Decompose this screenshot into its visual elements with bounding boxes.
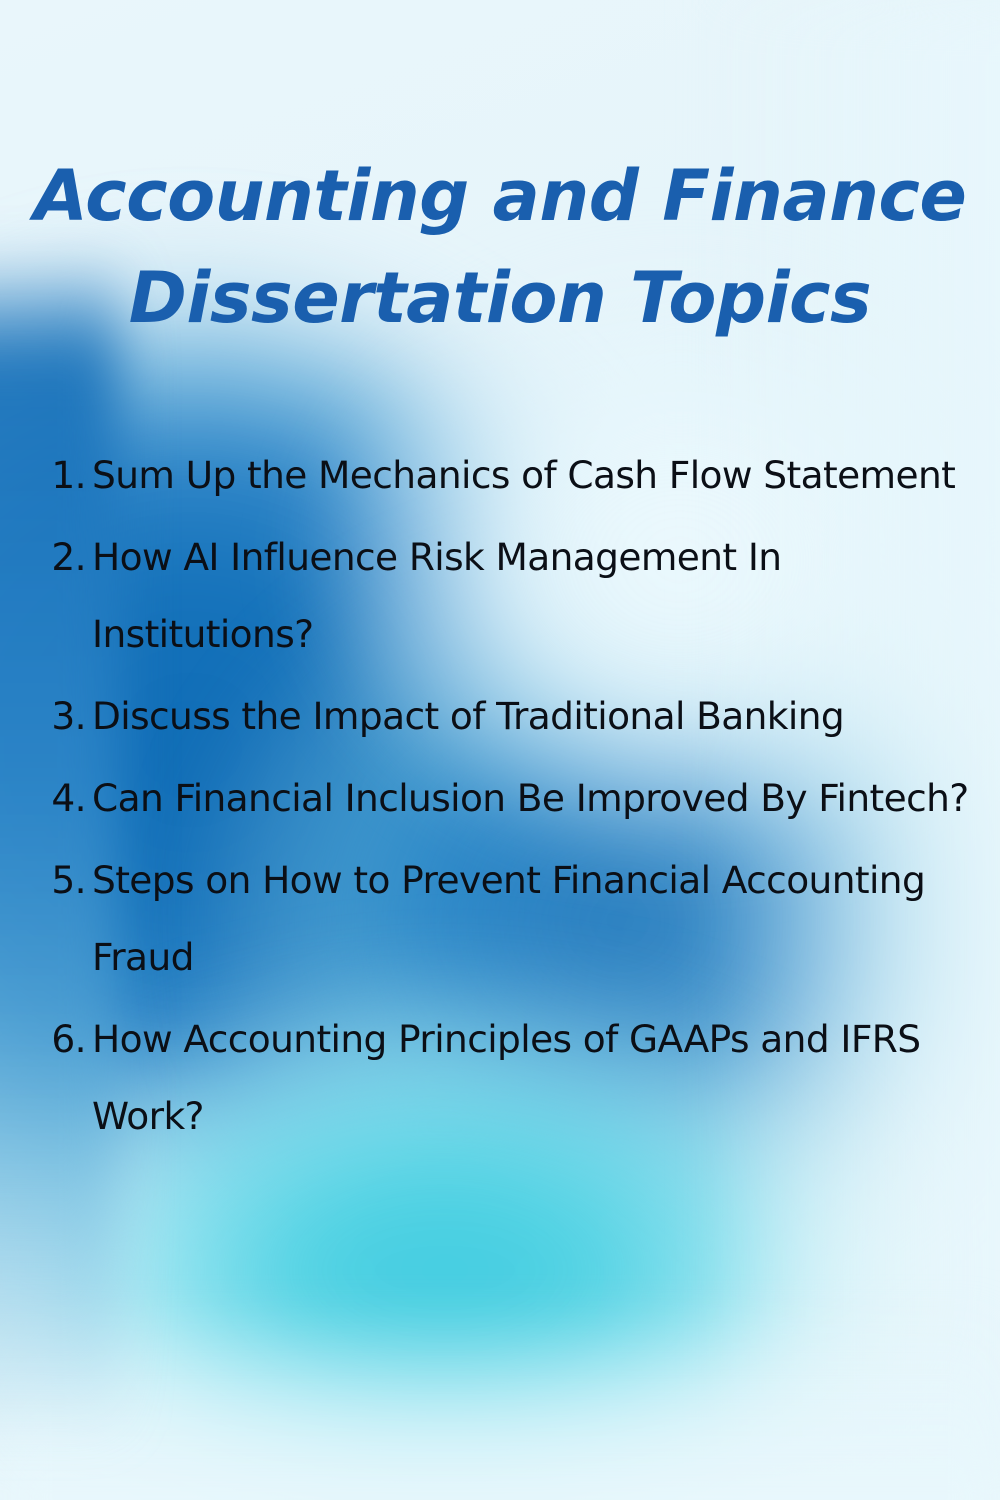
topics-list: Sum Up the Mechanics of Cash Flow Statem…	[40, 437, 970, 1160]
list-item: Steps on How to Prevent Financial Accoun…	[40, 842, 970, 996]
page-title-line-1: Accounting and Finance	[0, 145, 1000, 247]
list-item: Sum Up the Mechanics of Cash Flow Statem…	[40, 437, 970, 514]
poster-canvas: Accounting and Finance Dissertation Topi…	[0, 0, 1000, 1500]
poster-content: Accounting and Finance Dissertation Topi…	[0, 0, 1000, 1500]
page-title-line-2: Dissertation Topics	[0, 247, 1000, 349]
list-item: Discuss the Impact of Traditional Bankin…	[40, 678, 970, 755]
list-item: How Accounting Principles of GAAPs and I…	[40, 1001, 970, 1155]
page-title: Accounting and Finance Dissertation Topi…	[0, 145, 1000, 349]
list-item: Can Financial Inclusion Be Improved By F…	[40, 760, 970, 837]
list-item: How AI Influence Risk Management In Inst…	[40, 519, 970, 673]
